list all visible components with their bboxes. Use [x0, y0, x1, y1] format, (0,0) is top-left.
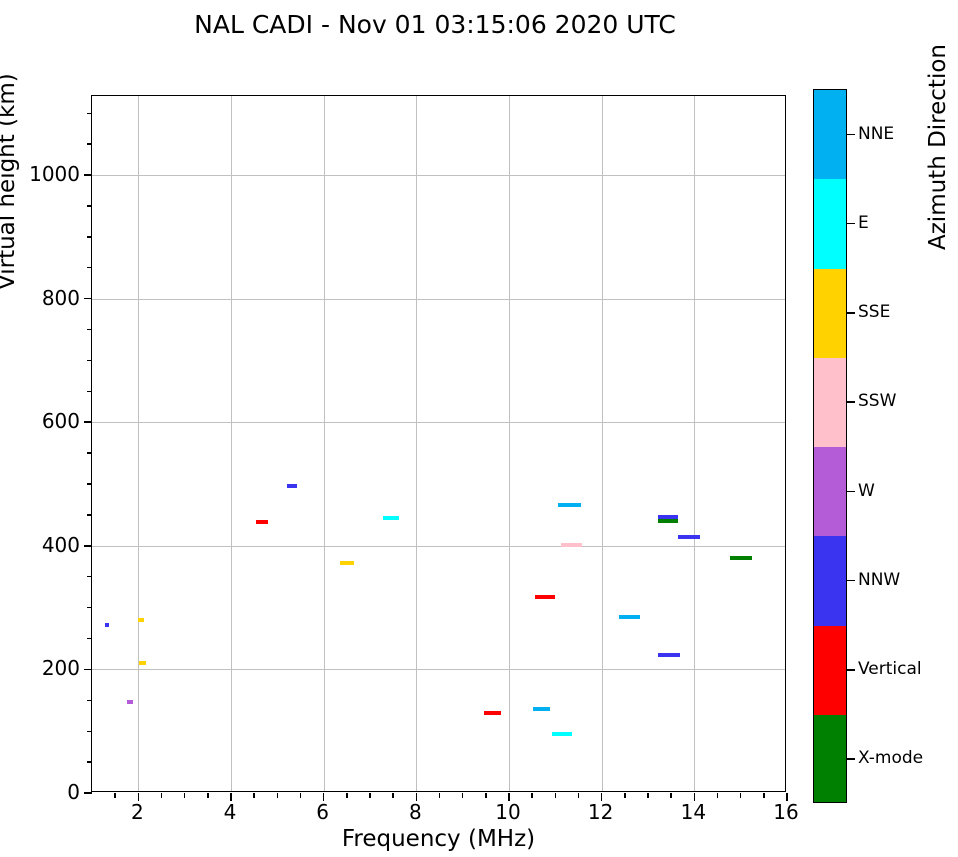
- y-tick-minor: [87, 514, 92, 515]
- data-mark-x-mode: [658, 519, 678, 523]
- x-tick-minor: [740, 793, 741, 798]
- data-mark-sse: [138, 618, 144, 622]
- colorbar-label-nnw: NNW: [858, 570, 900, 590]
- y-tick-minor: [87, 638, 92, 639]
- plot-area: [91, 95, 786, 792]
- y-tick-minor: [87, 576, 92, 577]
- x-tick-label: 8: [409, 800, 422, 824]
- x-tick-minor: [578, 793, 579, 798]
- x-tick-minor: [161, 793, 162, 798]
- y-axis-title: Virtual height (km): [0, 73, 20, 290]
- y-tick-major: [84, 792, 92, 794]
- colorbar-label-nne: NNE: [858, 124, 894, 144]
- gridline-vertical: [231, 96, 232, 791]
- y-tick-major: [84, 545, 92, 547]
- x-tick-minor: [277, 793, 278, 798]
- x-tick-label: 6: [316, 800, 329, 824]
- y-tick-minor: [87, 731, 92, 732]
- x-tick-minor: [300, 793, 301, 798]
- x-tick-label: 4: [224, 800, 237, 824]
- y-tick-minor: [87, 329, 92, 330]
- gridline-vertical: [138, 96, 139, 791]
- colorbar-tick: [847, 580, 855, 581]
- data-mark-nne: [558, 503, 581, 507]
- colorbar-segment-vertical: [814, 626, 846, 715]
- colorbar-tick: [847, 401, 855, 402]
- y-tick-minor: [87, 205, 92, 206]
- data-mark-vertical: [484, 711, 502, 715]
- colorbar-tick: [847, 669, 855, 670]
- x-tick-minor: [346, 793, 347, 798]
- gridline-horizontal: [92, 669, 785, 670]
- data-mark-sse: [340, 561, 354, 565]
- data-mark-nnw: [678, 535, 700, 539]
- gridline-vertical: [509, 96, 510, 791]
- colorbar-tick: [847, 134, 855, 135]
- y-tick-minor: [87, 607, 92, 608]
- data-mark-w: [127, 700, 133, 704]
- x-tick-minor: [624, 793, 625, 798]
- ionogram-plot-root: NAL CADI - Nov 01 03:15:06 2020 UTC 0200…: [0, 0, 958, 857]
- x-tick-minor: [763, 793, 764, 798]
- data-mark-vertical: [256, 520, 269, 524]
- colorbar-tick: [847, 312, 855, 313]
- data-mark-vertical: [535, 595, 555, 599]
- x-tick-label: 14: [681, 800, 706, 824]
- colorbar-label-x-mode: X-mode: [858, 748, 923, 768]
- colorbar-label-e: E: [858, 213, 869, 233]
- gridline-vertical: [694, 96, 695, 791]
- page-title: NAL CADI - Nov 01 03:15:06 2020 UTC: [0, 10, 870, 39]
- x-tick-minor: [369, 793, 370, 798]
- data-mark-nnw: [287, 484, 297, 488]
- colorbar-label-vertical: Vertical: [858, 659, 922, 679]
- y-tick-minor: [87, 113, 92, 114]
- colorbar-segment-ssw: [814, 358, 846, 447]
- y-tick-minor: [87, 143, 92, 144]
- y-tick-label: 200: [42, 656, 80, 680]
- x-tick-minor: [462, 793, 463, 798]
- x-tick-minor: [531, 793, 532, 798]
- x-tick-minor: [555, 793, 556, 798]
- x-axis-title: Frequency (MHz): [91, 826, 786, 852]
- colorbar-ticks: [847, 89, 857, 803]
- y-tick-minor: [87, 700, 92, 701]
- gridline-horizontal: [92, 422, 785, 423]
- data-mark-nne: [533, 707, 550, 711]
- y-tick-major: [84, 298, 92, 300]
- y-tick-minor: [87, 761, 92, 762]
- y-tick-major: [84, 174, 92, 176]
- colorbar-segment-nnw: [814, 536, 846, 625]
- y-tick-minor: [87, 391, 92, 392]
- colorbar-title: Azimuth Direction: [925, 44, 951, 250]
- colorbar-tick: [847, 223, 855, 224]
- x-tick-minor: [253, 793, 254, 798]
- x-tick-minor: [670, 793, 671, 798]
- y-tick-label: 0: [67, 780, 80, 804]
- colorbar-tick: [847, 758, 855, 759]
- gridline-horizontal: [92, 175, 785, 176]
- colorbar-tick: [847, 491, 855, 492]
- data-mark-sse: [139, 661, 146, 665]
- colorbar-label-w: W: [858, 481, 875, 501]
- colorbar-segment-e: [814, 179, 846, 268]
- y-tick-label: 800: [42, 286, 80, 310]
- gridline-horizontal: [92, 299, 785, 300]
- x-tick-minor: [392, 793, 393, 798]
- y-tick-minor: [87, 483, 92, 484]
- x-tick-label: 16: [773, 800, 798, 824]
- y-tick-minor: [87, 267, 92, 268]
- y-tick-minor: [87, 452, 92, 453]
- data-mark-nnw: [658, 653, 680, 657]
- y-tick-label: 600: [42, 409, 80, 433]
- gridline-vertical: [602, 96, 603, 791]
- gridline-vertical: [416, 96, 417, 791]
- colorbar-segment-sse: [814, 269, 846, 358]
- y-tick-label: 1000: [29, 162, 80, 186]
- x-tick-label: 10: [495, 800, 520, 824]
- colorbar-segment-x-mode: [814, 715, 846, 803]
- x-tick-label: 12: [588, 800, 613, 824]
- x-tick-minor: [717, 793, 718, 798]
- y-tick-major: [84, 421, 92, 423]
- x-tick-minor: [485, 793, 486, 798]
- data-mark-ssw: [561, 543, 582, 547]
- y-tick-label: 400: [42, 533, 80, 557]
- colorbar-label-ssw: SSW: [858, 391, 896, 411]
- y-tick-minor: [87, 360, 92, 361]
- gridline-horizontal: [92, 546, 785, 547]
- x-tick-minor: [207, 793, 208, 798]
- data-mark-nne: [619, 615, 639, 619]
- y-tick-minor: [87, 236, 92, 237]
- y-tick-major: [84, 669, 92, 671]
- colorbar-segment-w: [814, 447, 846, 536]
- gridline-vertical: [324, 96, 325, 791]
- x-tick-minor: [439, 793, 440, 798]
- azimuth-colorbar: [813, 89, 847, 803]
- colorbar-segment-nne: [814, 90, 846, 179]
- x-tick-minor: [114, 793, 115, 798]
- colorbar-label-sse: SSE: [858, 302, 890, 322]
- data-mark-e: [383, 516, 400, 520]
- x-tick-label: 2: [131, 800, 144, 824]
- data-mark-nnw: [105, 623, 109, 627]
- data-mark-x-mode: [730, 556, 752, 560]
- x-tick-minor: [647, 793, 648, 798]
- x-tick-minor: [184, 793, 185, 798]
- data-mark-e: [552, 732, 572, 736]
